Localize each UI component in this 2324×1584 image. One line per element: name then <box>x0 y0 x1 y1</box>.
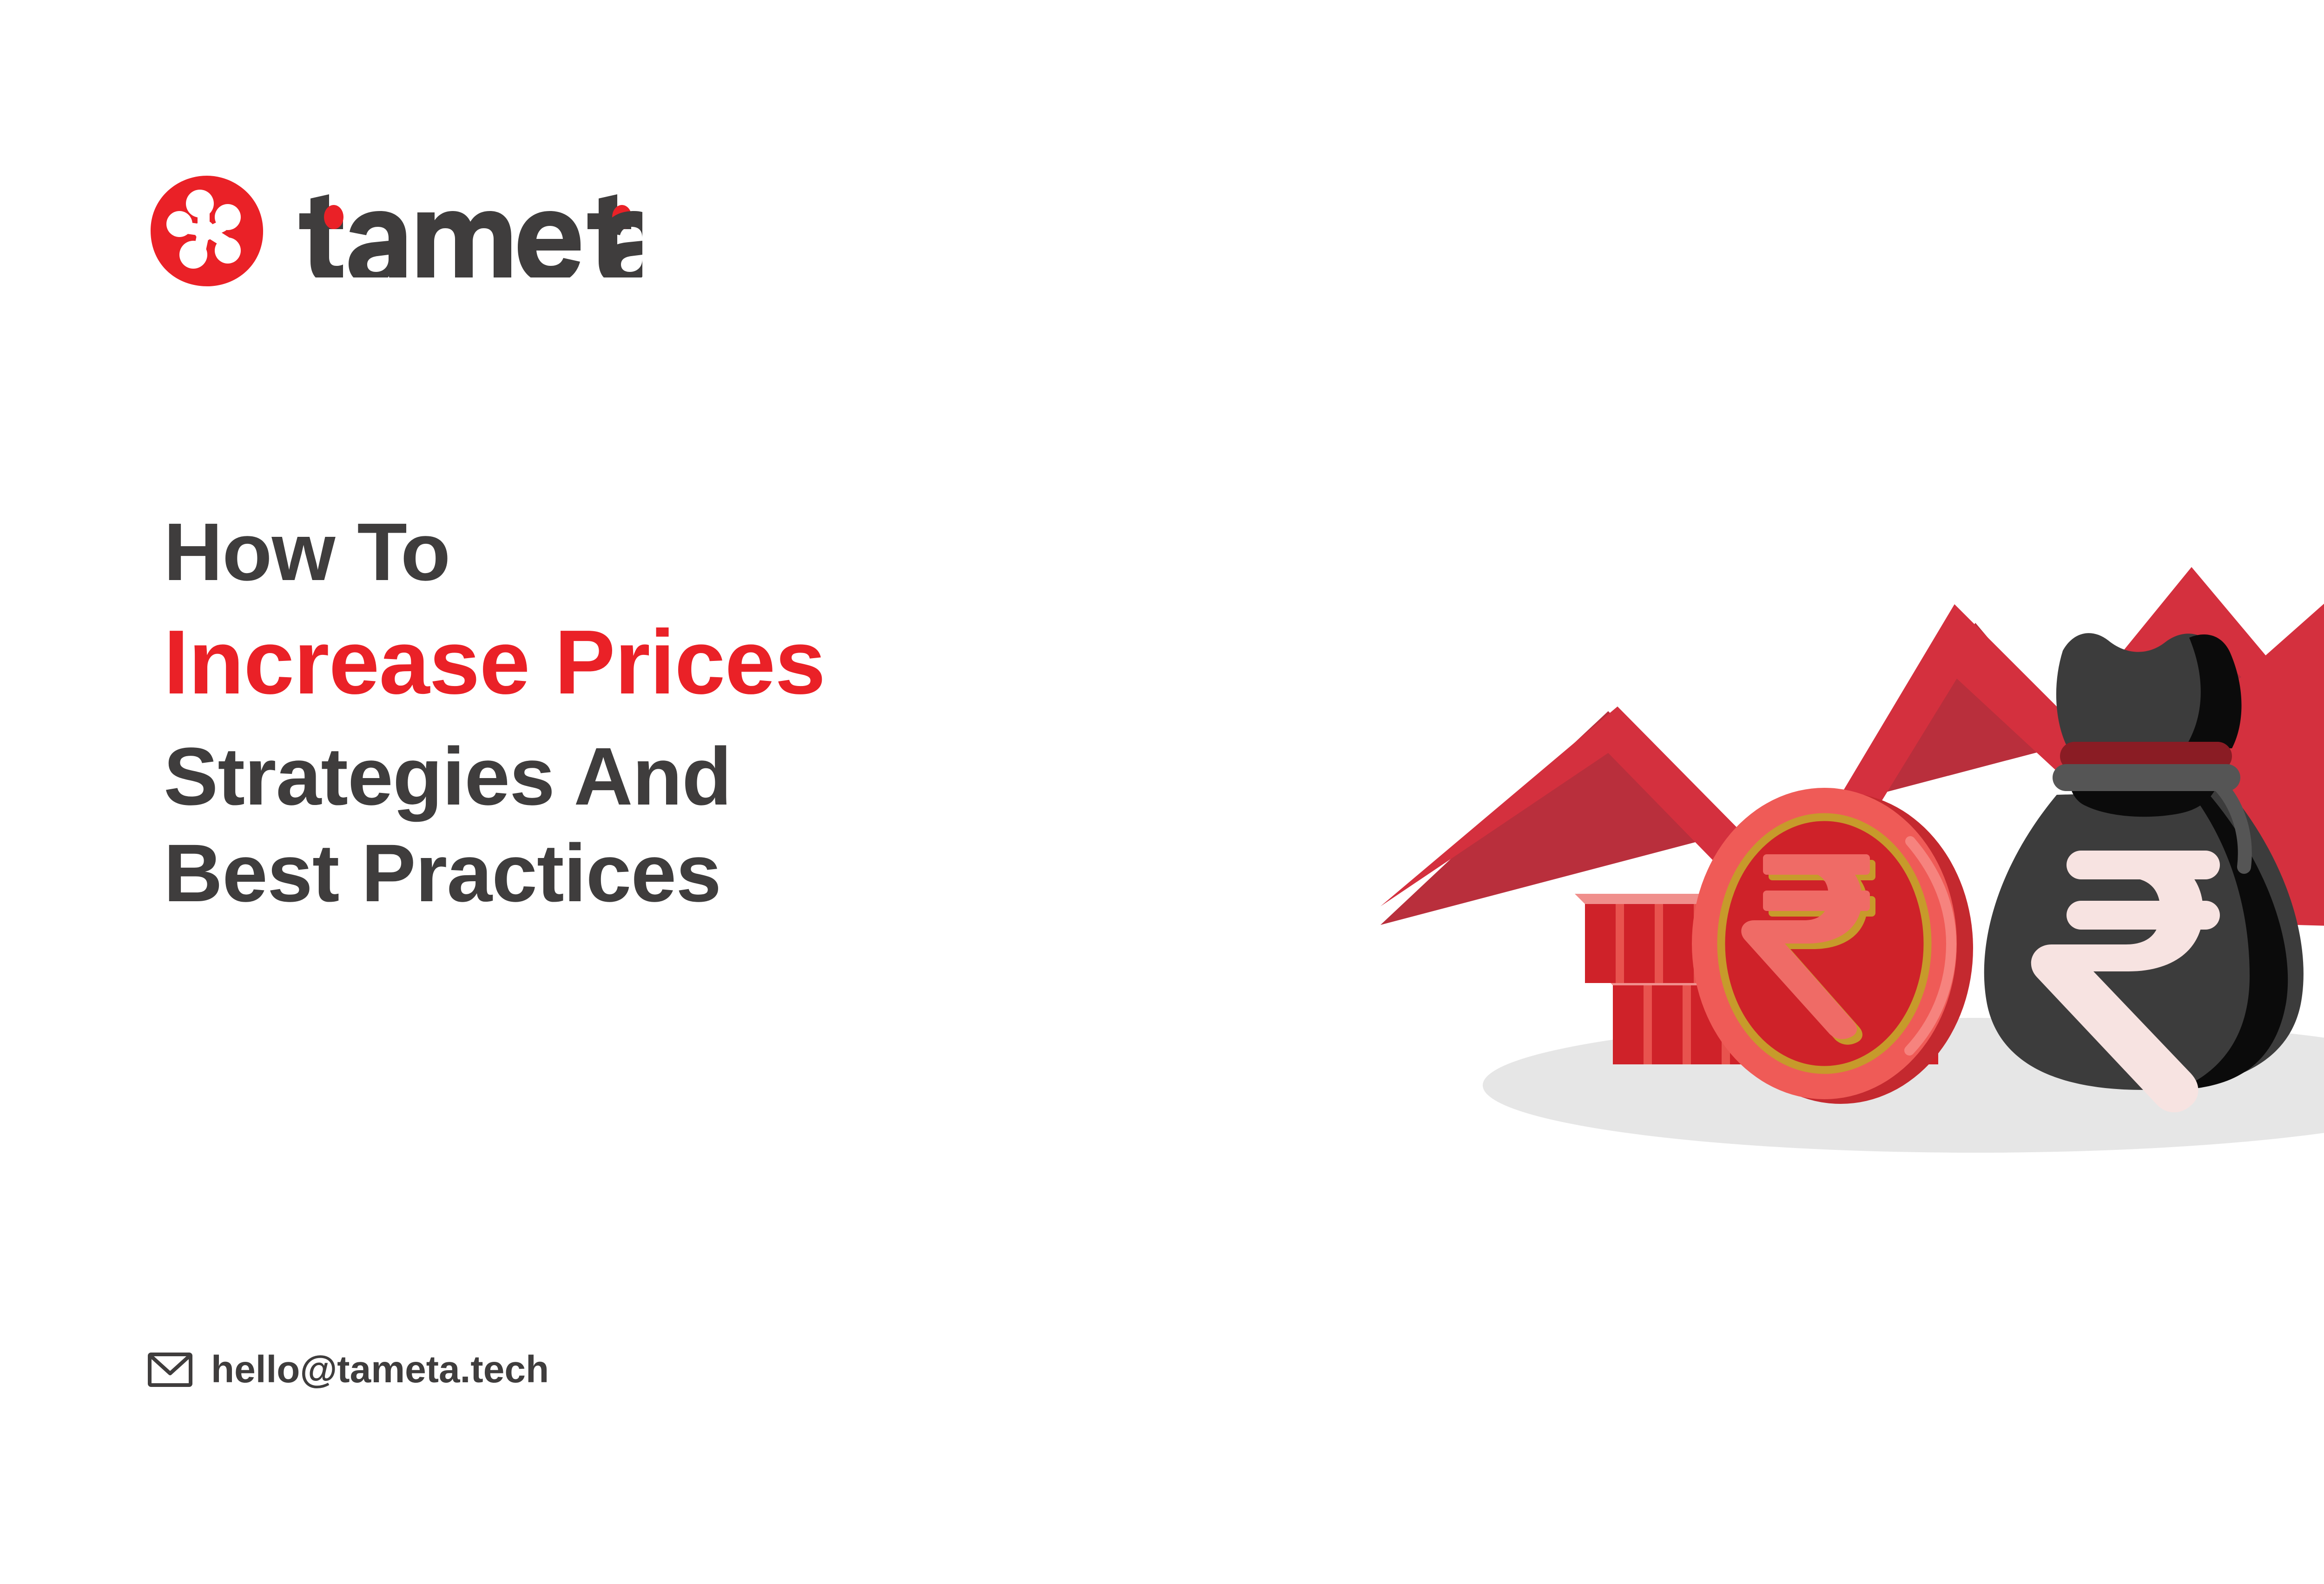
network-hub-icon <box>149 173 265 289</box>
brand-lockup[interactable] <box>149 173 642 289</box>
headline-line-3: Strategies And <box>164 729 1279 825</box>
envelope-icon <box>148 1353 192 1387</box>
headline-line-1: How To <box>164 504 1279 601</box>
rupee-coin <box>1692 788 1973 1104</box>
headline-line-4: Best Practices <box>164 825 1279 922</box>
page-title: How To Increase Prices Strategies And Be… <box>164 504 1279 922</box>
hero-illustration <box>1311 325 2324 1208</box>
slide-canvas: How To Increase Prices Strategies And Be… <box>0 0 2324 1584</box>
headline-line-2-accent: Increase Prices <box>164 607 1279 717</box>
brand-wordmark <box>289 185 642 277</box>
contact-email-block[interactable]: hello@tameta.tech <box>148 1348 549 1392</box>
contact-email-text: hello@tameta.tech <box>211 1348 549 1392</box>
